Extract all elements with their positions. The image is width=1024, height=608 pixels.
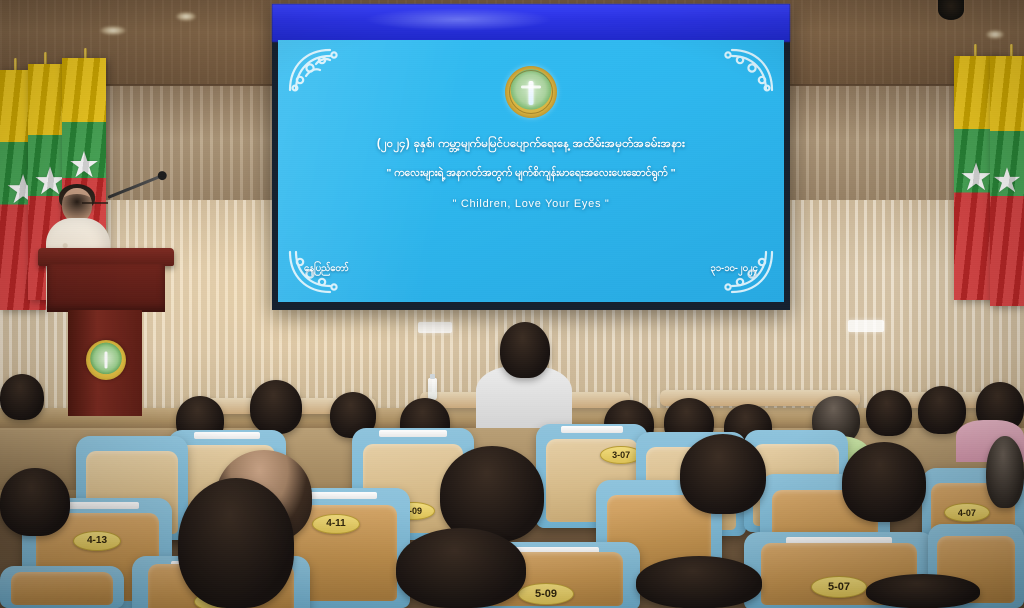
podium-body xyxy=(47,264,165,312)
projection-screen-frame: (၂၀၂၄) ခုနှစ်၊ ကမ္ဘာ့မျက်မမြင်ပပျောက်ရေး… xyxy=(272,4,790,310)
seat-number-tag: 4-13 xyxy=(73,531,121,551)
slide-text-block: (၂၀၂၄) ခုနှစ်၊ ကမ္ဘာ့မျက်မမြင်ပပျောက်ရေး… xyxy=(278,136,784,210)
ministry-of-health-emblem xyxy=(505,66,557,118)
seat-label-strip xyxy=(379,430,447,437)
attendee-head xyxy=(986,436,1024,508)
speaker-hair-side xyxy=(57,194,97,220)
seat-number-tag: 5-07 xyxy=(811,576,867,598)
attendee-head xyxy=(396,528,526,608)
auditorium-seat[interactable] xyxy=(0,566,124,608)
presentation-slide: (၂၀၂၄) ခုနှစ်၊ ကမ္ဘာ့မျက်မမြင်ပပျောက်ရေး… xyxy=(278,40,784,302)
myanmar-flag: ★ xyxy=(990,56,1024,306)
seat-label-strip xyxy=(561,426,624,433)
slide-title-myanmar: (၂၀၂၄) ခုနှစ်၊ ကမ္ဘာ့မျက်မမြင်ပပျောက်ရေး… xyxy=(300,136,762,153)
corner-filigree-ornament xyxy=(714,46,776,94)
ceiling-downlight xyxy=(176,12,196,21)
slide-slogan-english: " Children, Love Your Eyes " xyxy=(300,198,762,210)
wall-sign-plate xyxy=(848,320,884,332)
attendee-head xyxy=(636,556,762,608)
ceiling-downlight xyxy=(986,30,1004,39)
water-bottle xyxy=(428,378,437,400)
seat-number-tag: 5-09 xyxy=(518,583,574,605)
slide-footer: နေပြည်တော် ၃၁-၁၀-၂၀၂၄ xyxy=(304,262,758,276)
attendee-head xyxy=(0,374,44,420)
corner-filigree-ornament xyxy=(286,46,348,94)
ministry-seal xyxy=(86,340,126,380)
conference-hall-photo: ★ ★ ★ ★ ★ xyxy=(0,0,1024,608)
seat-number-tag: 4-11 xyxy=(312,514,360,534)
attendee-head xyxy=(178,478,294,608)
attendee-head xyxy=(842,442,926,522)
attendee-head xyxy=(866,574,980,608)
slide-slogan-myanmar: " ကလေးများရဲ့ အနာဂတ်အတွက် မျက်စိကျန်းမာရ… xyxy=(300,166,762,182)
attendee-head xyxy=(680,434,766,514)
flag-fold-shading xyxy=(990,56,1024,306)
attendee-head xyxy=(500,322,550,378)
wooden-podium xyxy=(38,248,174,416)
projector-header-band xyxy=(272,4,790,42)
seat-back-pad xyxy=(11,572,113,606)
seat-number-tag: 4-07 xyxy=(944,503,990,522)
attendee-head xyxy=(866,390,912,436)
slide-footer-date: ၃၁-၁၀-၂၀၂၄ xyxy=(710,262,758,276)
slide-footer-place: နေပြည်တော် xyxy=(304,262,349,276)
attendee-head xyxy=(918,386,966,434)
wall-sign-plate xyxy=(418,322,452,333)
emblem-ring xyxy=(509,70,553,114)
ceiling-downlight xyxy=(100,26,126,35)
ceiling-speaker xyxy=(938,0,964,20)
attendee-head xyxy=(250,380,302,434)
attendee-head xyxy=(0,468,70,536)
seat-label-strip xyxy=(194,432,260,439)
